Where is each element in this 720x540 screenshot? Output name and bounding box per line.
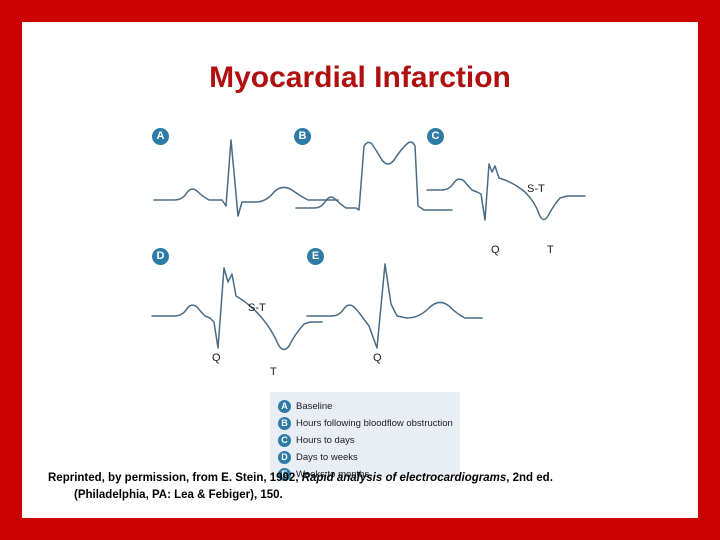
legend-item-c: C Hours to days — [270, 432, 460, 449]
panel-badge-e: E — [307, 248, 324, 265]
label-q-e: Q — [373, 352, 382, 364]
caption-line2: (Philadelphia, PA: Lea & Febiger), 150. — [48, 487, 682, 504]
caption-book-title: Rapid analysis of electrocardiograms — [302, 472, 507, 484]
ecg-trace-d — [152, 248, 322, 368]
slide-content-area: Myocardial Infarction A B C — [22, 22, 698, 518]
legend-label-c: Hours to days — [296, 435, 355, 446]
legend-label-b: Hours following bloodflow obstruction — [296, 418, 453, 429]
caption-line1-pre: Reprinted, by permission, from E. Stein,… — [48, 472, 302, 484]
legend-item-a: A Baseline — [270, 398, 460, 415]
panel-badge-c: C — [427, 128, 444, 145]
label-st-c: S-T — [527, 183, 545, 195]
label-t-c: T — [547, 244, 554, 256]
ecg-figure: A B C S-T Q T — [22, 100, 698, 470]
legend-badge-d: D — [278, 451, 291, 464]
legend-label-d: Days to weeks — [296, 452, 358, 463]
label-st-d: S-T — [248, 302, 266, 314]
page-title: Myocardial Infarction — [22, 60, 698, 96]
label-t-d: T — [270, 366, 277, 378]
source-caption: Reprinted, by permission, from E. Stein,… — [48, 470, 682, 504]
label-q-d: Q — [212, 352, 221, 364]
ecg-panel-d: D S-T Q T — [152, 248, 322, 368]
legend-badge-c: C — [278, 434, 291, 447]
legend-label-a: Baseline — [296, 401, 332, 412]
legend-badge-b: B — [278, 417, 291, 430]
ecg-panel-c: C S-T Q T — [427, 128, 587, 248]
ecg-panel-e: E Q — [307, 248, 482, 368]
panel-badge-b: B — [294, 128, 311, 145]
ecg-trace-c — [427, 128, 587, 248]
legend-badge-a: A — [278, 400, 291, 413]
panel-badge-d: D — [152, 248, 169, 265]
ecg-trace-e — [307, 248, 482, 368]
slide-frame: Myocardial Infarction A B C — [0, 0, 720, 540]
legend-item-d: D Days to weeks — [270, 449, 460, 466]
panel-badge-a: A — [152, 128, 169, 145]
label-q-c: Q — [491, 244, 500, 256]
caption-line1-post: , 2nd ed. — [506, 472, 553, 484]
legend-box: A Baseline B Hours following bloodflow o… — [270, 392, 460, 478]
legend-item-b: B Hours following bloodflow obstruction — [270, 415, 460, 432]
